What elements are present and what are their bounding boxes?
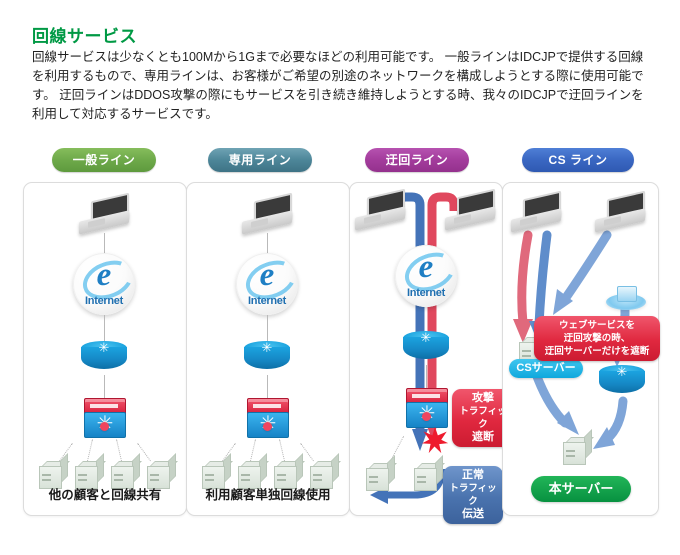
internet-label: Internet	[73, 295, 135, 307]
panel-caption: 利用顧客単独回線使用	[187, 484, 349, 503]
internet-label: Internet	[395, 287, 457, 299]
tab-bypass-line[interactable]: 迂回ライン	[365, 148, 469, 172]
panel-dedicated-line: e Internet ✳ 利用顧客単独回線使用	[186, 182, 350, 516]
internet-cloud-icon: e Internet	[236, 253, 298, 315]
link-switch-server-2	[250, 439, 256, 461]
intro-paragraph: 回線サービスは少なくとも100Mから1Gまで必要なほどの利用可能です。 一般ライ…	[32, 48, 648, 124]
link-router-switch	[104, 375, 105, 399]
tab-dedicated-line[interactable]: 専用ライン	[208, 148, 312, 172]
main-server-icon	[561, 435, 597, 471]
line-type-tabs: 一般ライン 専用ライン 迂回ライン CS ライン	[0, 148, 680, 176]
internet-cloud-icon: e Internet	[395, 245, 457, 307]
link-internet-router	[267, 315, 268, 342]
main-server-pill: 本サーバー	[531, 476, 631, 502]
link-laptop-internet	[104, 233, 105, 255]
attack-burst-icon	[422, 427, 448, 453]
laptop-icon	[242, 197, 294, 235]
link-router-switch	[267, 375, 268, 399]
tab-general-line[interactable]: 一般ライン	[52, 148, 156, 172]
link-switch-server-3	[279, 439, 285, 461]
link-switch-server-2	[87, 439, 93, 461]
link-internet-router	[104, 315, 105, 342]
laptop-icon	[445, 193, 497, 231]
link-laptop-internet	[267, 233, 268, 255]
switch-icon	[406, 388, 450, 428]
laptop-icon	[79, 197, 131, 235]
laptop-icon	[595, 195, 647, 233]
router-icon: ✳	[403, 331, 449, 365]
link-router-switch	[426, 365, 427, 389]
internet-label: Internet	[236, 295, 298, 307]
laptop-icon	[355, 193, 407, 231]
router-icon: ✳	[81, 341, 127, 375]
web-service-callout: ウェブサービスを 迂回攻撃の時、 迂回サーバーだけを遮断	[534, 316, 660, 361]
server-icon	[364, 461, 394, 491]
laptop-icon	[511, 195, 563, 233]
router-icon: ✳	[244, 341, 290, 375]
link-switch-server-3	[116, 439, 122, 461]
normal-traffic-callout: 正常 トラフィック 伝送	[443, 466, 503, 524]
page-title: 回線サービス	[32, 22, 137, 47]
switch-icon	[84, 398, 128, 438]
internet-cloud-icon: e Internet	[73, 253, 135, 315]
server-icon	[412, 461, 442, 491]
switch-icon	[247, 398, 291, 438]
panel-caption: 他の顧客と回線共有	[24, 484, 186, 503]
panel-general-line: e Internet ✳ 他の顧客と回線共有	[23, 182, 187, 516]
tab-cs-line[interactable]: CS ライン	[522, 148, 634, 172]
wireless-disc-icon	[606, 283, 646, 313]
router-icon: ✳	[599, 365, 645, 399]
cs-server-pill: CSサーバー	[509, 359, 583, 378]
